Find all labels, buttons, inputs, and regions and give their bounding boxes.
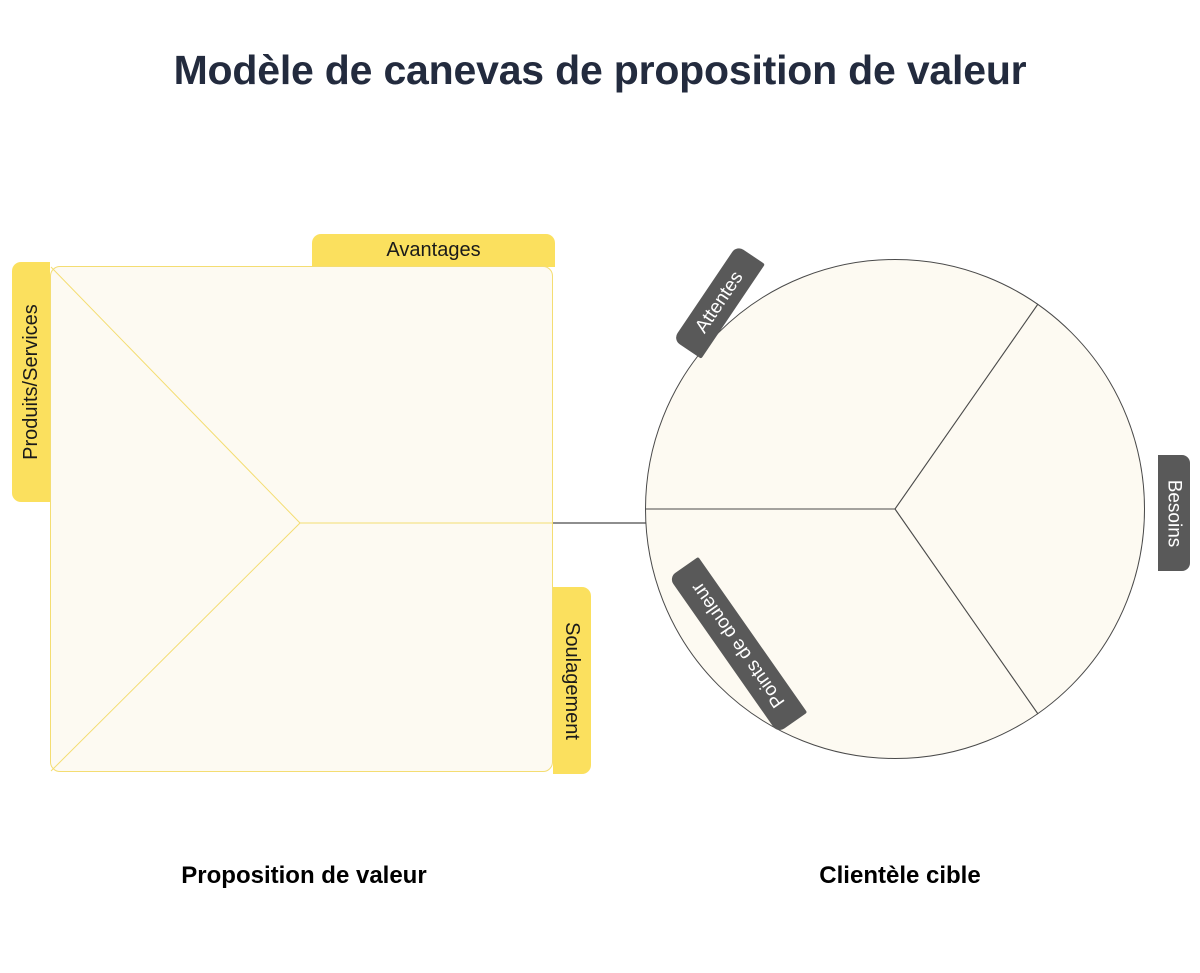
segment-tab-produits-services-label: Produits/Services <box>21 304 41 460</box>
segment-tab-besoins[interactable]: Besoins <box>1158 455 1190 571</box>
customer-segment-circle[interactable] <box>645 259 1145 759</box>
value-proposition-canvas: Modèle de canevas de proposition de vale… <box>0 0 1200 973</box>
segment-tab-soulagement[interactable]: Soulagement <box>553 587 591 774</box>
segment-tab-produits-services[interactable]: Produits/Services <box>12 262 50 502</box>
segment-tab-soulagement-label: Soulagement <box>562 622 582 740</box>
page-title: Modèle de canevas de proposition de vale… <box>150 44 1050 96</box>
value-proposition-panel: Produits/Services Avantages Soulagement <box>0 225 620 795</box>
caption-proposition-de-valeur: Proposition de valeur <box>0 862 608 890</box>
segment-tab-besoins-label: Besoins <box>1165 479 1184 547</box>
customer-segment-panel: Attentes Besoins Points de douleur <box>620 245 1200 805</box>
caption-clientele-cible: Clientèle cible <box>620 862 1180 890</box>
segment-tab-avantages[interactable]: Avantages <box>312 234 555 267</box>
value-proposition-square[interactable] <box>50 266 553 772</box>
segment-tab-avantages-label: Avantages <box>386 240 480 260</box>
